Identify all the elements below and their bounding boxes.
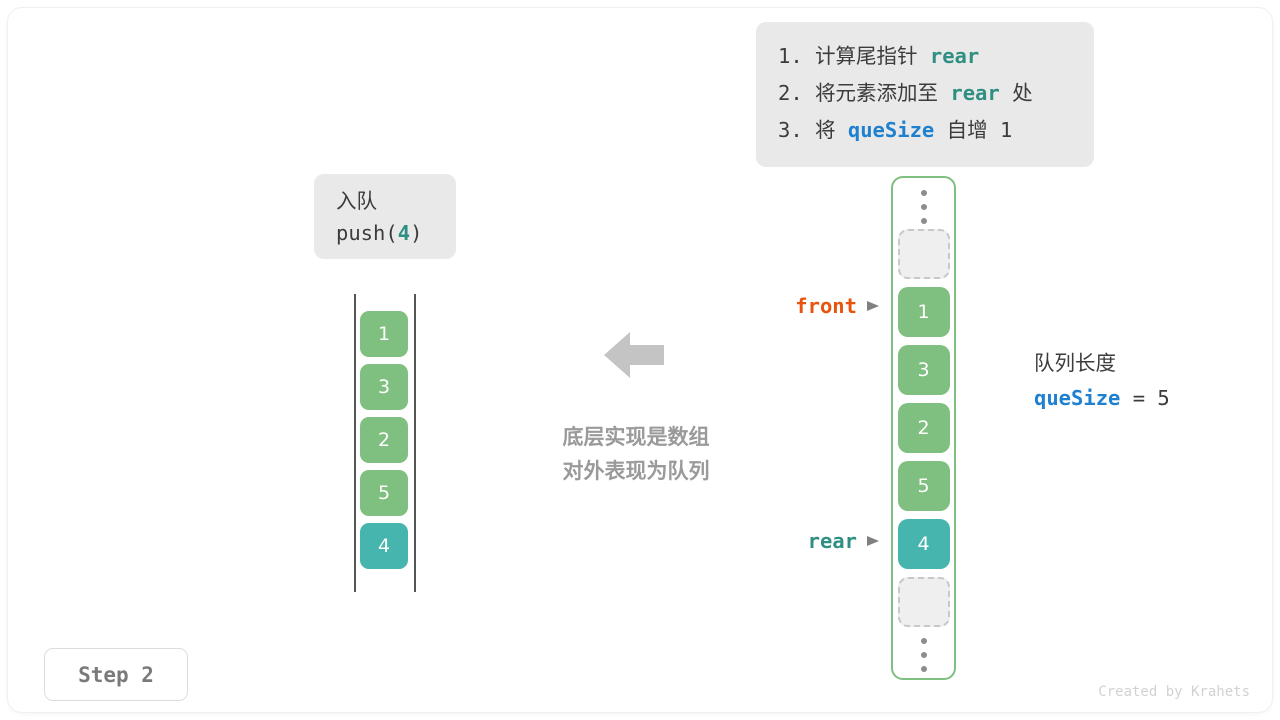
- queue-cell: 4: [360, 523, 408, 569]
- instruction-2-prefix: 2. 将元素添加至: [778, 81, 950, 105]
- queue-cell: 5: [360, 470, 408, 516]
- queue-left: 1 3 2 5 4: [354, 294, 416, 592]
- queue-cell: 2: [360, 417, 408, 463]
- diagram-caption: 底层实现是数组 对外表现为队列: [536, 420, 736, 488]
- step-badge-label: Step 2: [78, 663, 154, 687]
- instruction-3-code: queSize: [848, 118, 934, 142]
- operation-call-arg: 4: [398, 221, 410, 245]
- array-cell-empty: [898, 229, 950, 279]
- array-cell: 1: [898, 287, 950, 337]
- array-container: 1 3 2 5 4: [891, 176, 956, 680]
- vertical-ellipsis-icon-bottom: [921, 638, 927, 672]
- queue-size-info: 队列长度 queSize = 5: [1034, 347, 1170, 416]
- step-badge: Step 2: [44, 648, 188, 701]
- rear-pointer-label: rear: [808, 529, 857, 553]
- rear-pointer: rear: [750, 529, 880, 553]
- caption-line-2: 对外表现为队列: [536, 454, 736, 488]
- operation-box: 入队 push(4): [314, 174, 456, 259]
- operation-title: 入队: [336, 185, 456, 217]
- instruction-line-2: 2. 将元素添加至 rear 处: [756, 75, 1094, 112]
- instruction-1-prefix: 1. 计算尾指针: [778, 44, 930, 68]
- credit-text: Created by Krahets: [1098, 684, 1250, 700]
- queue-length-label: 队列长度: [1034, 347, 1170, 380]
- queue-cells: 1 3 2 5 4: [360, 311, 408, 576]
- instruction-box: 1. 计算尾指针 rear 2. 将元素添加至 rear 处 3. 将 queS…: [756, 22, 1094, 167]
- left-arrow-icon: [604, 330, 664, 380]
- pointer-arrow-icon: [866, 534, 880, 548]
- quesize-expression: queSize = 5: [1034, 380, 1170, 416]
- front-pointer: front: [750, 294, 880, 318]
- instruction-2-code: rear: [950, 81, 999, 105]
- quesize-variable: queSize: [1034, 386, 1120, 410]
- array-cell-empty: [898, 577, 950, 627]
- queue-cell: 1: [360, 311, 408, 357]
- queue-cell: 3: [360, 364, 408, 410]
- instruction-line-1: 1. 计算尾指针 rear: [756, 38, 1094, 75]
- array-cell: 4: [898, 519, 950, 569]
- array-cell: 3: [898, 345, 950, 395]
- instruction-2-suffix: 处: [1000, 81, 1033, 105]
- front-pointer-label: front: [795, 294, 857, 318]
- array-cell: 5: [898, 461, 950, 511]
- array-cell: 2: [898, 403, 950, 453]
- queue-rail-right: [414, 294, 416, 592]
- operation-call: push(4): [336, 217, 456, 249]
- instruction-1-code: rear: [930, 44, 979, 68]
- vertical-ellipsis-icon-top: [921, 190, 927, 224]
- operation-call-prefix: push(: [336, 221, 398, 245]
- operation-call-suffix: ): [410, 221, 422, 245]
- instruction-3-prefix: 3. 将: [778, 118, 848, 142]
- quesize-value: = 5: [1120, 386, 1169, 410]
- diagram-canvas: 1. 计算尾指针 rear 2. 将元素添加至 rear 处 3. 将 queS…: [8, 8, 1272, 712]
- instruction-line-3: 3. 将 queSize 自增 1: [756, 112, 1094, 149]
- caption-line-1: 底层实现是数组: [536, 420, 736, 454]
- instruction-3-suffix: 自增 1: [934, 118, 1012, 142]
- queue-rail-left: [354, 294, 356, 592]
- pointer-arrow-icon: [866, 299, 880, 313]
